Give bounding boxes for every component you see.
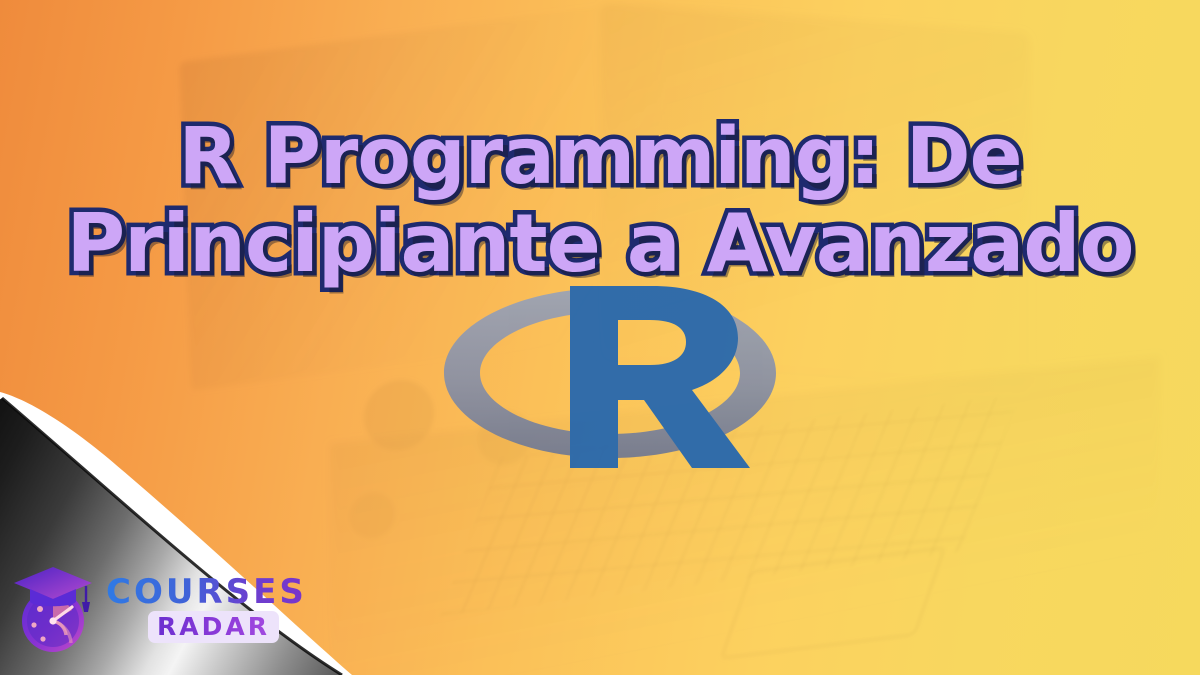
laptop-trackpad-ghost	[719, 546, 946, 660]
graduation-cap-radar-icon	[10, 563, 96, 655]
course-title: R Programming: De Principiante a Avanzad…	[0, 118, 1200, 284]
course-title-line-1: R Programming: De	[0, 118, 1200, 196]
course-thumbnail-card: R Programming: De Principiante a Avanzad…	[0, 0, 1200, 675]
brand-radar-pill: RADAR	[148, 611, 279, 643]
course-title-line-2: Principiante a Avanzado	[0, 204, 1200, 284]
laptop-base-ghost	[330, 356, 1160, 675]
brand-name-radar: RADAR	[157, 614, 270, 639]
brand-name-courses: COURSES	[106, 575, 307, 609]
brand-lockup: COURSES RADAR	[10, 563, 307, 655]
brand-wordmark: COURSES RADAR	[106, 575, 307, 643]
laptop-keyboard-ghost	[440, 394, 1021, 615]
screen-chart-ghost	[300, 318, 630, 571]
